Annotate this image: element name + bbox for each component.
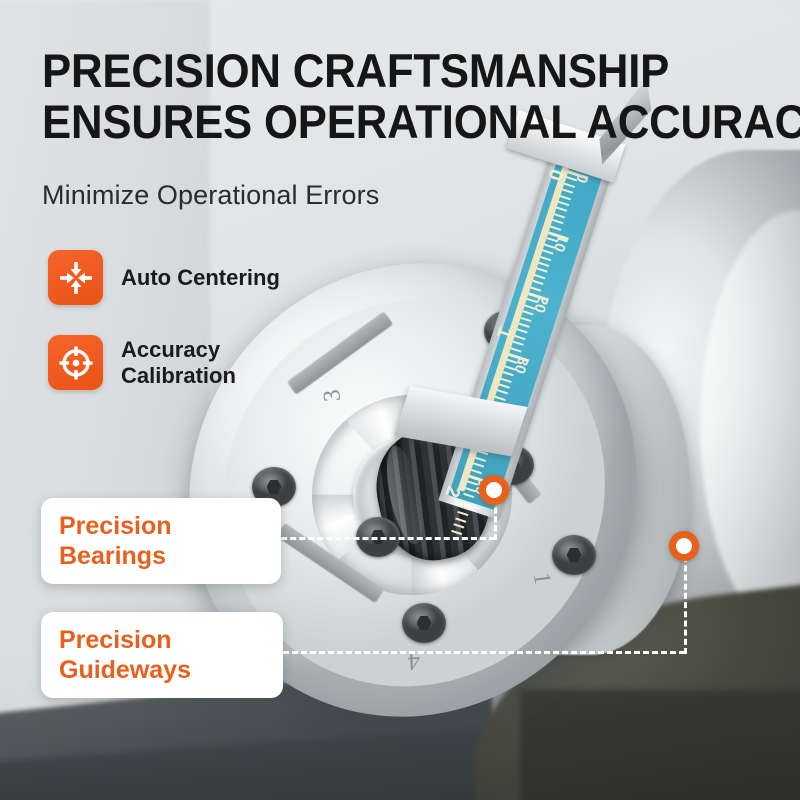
callout-line-1: Precision — [59, 512, 172, 540]
page-subtitle: Minimize Operational Errors — [42, 180, 379, 211]
callout-text: Precision Bearings — [59, 511, 172, 571]
feature-label: Accuracy Calibration — [121, 337, 236, 389]
chuck-screw — [402, 603, 446, 643]
page-title: PRECISION CRAFTSMANSHIP ENSURES OPERATIO… — [42, 46, 712, 148]
chuck-screw — [552, 535, 596, 575]
callout-line-2: Bearings — [59, 542, 166, 570]
feature-accuracy-calibration: Accuracy Calibration — [48, 335, 236, 390]
auto-centering-icon — [48, 250, 103, 305]
leader-line-guideways-vertical — [684, 547, 687, 654]
crosshair-target-icon — [48, 335, 103, 390]
callout-text: Precision Guideways — [59, 625, 191, 685]
feature-label: Auto Centering — [121, 265, 280, 291]
leader-line-bearings-horizontal — [245, 537, 495, 540]
feature-label-line-2: Calibration — [121, 363, 236, 388]
callout-precision-bearings: Precision Bearings — [41, 498, 281, 584]
callout-marker-bearings — [479, 475, 509, 505]
leader-line-guideways-horizontal — [247, 651, 685, 654]
headline-line-1: PRECISION CRAFTSMANSHIP — [42, 46, 712, 97]
feature-label-line-1: Accuracy — [121, 337, 220, 362]
callout-line-2: Guideways — [59, 656, 191, 684]
callout-marker-guideways — [669, 531, 699, 561]
headline-line-2: ENSURES OPERATIONAL ACCURACY — [42, 97, 712, 148]
feature-auto-centering: Auto Centering — [48, 250, 280, 305]
callout-line-1: Precision — [59, 626, 172, 654]
callout-precision-guideways: Precision Guideways — [41, 612, 283, 698]
product-marketing-banner: 2 3 1 4 01020304050012 PRECISION CRAFTSM… — [0, 0, 800, 800]
